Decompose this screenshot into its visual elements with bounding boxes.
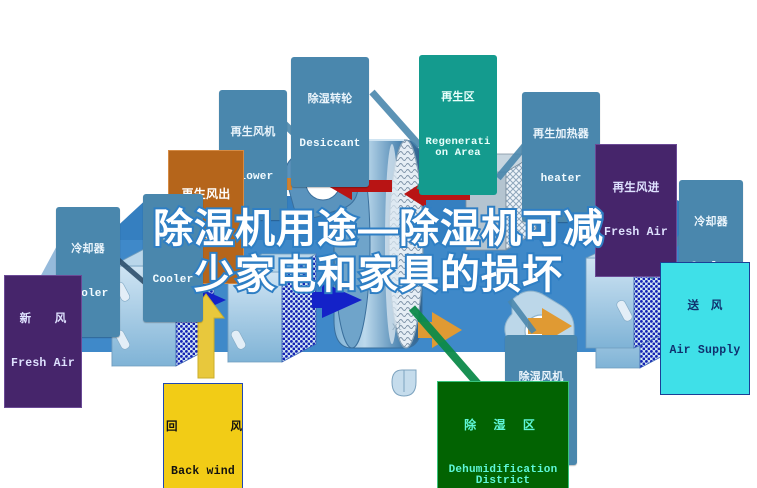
label-dehumid-district-en: Dehumidification District	[440, 465, 566, 488]
label-dehumid-district: 除 湿 区 Dehumidification District	[437, 381, 569, 488]
label-desiccant-wheel: 除湿转轮 Desiccant	[291, 57, 369, 187]
label-regen-heater: 再生加热器 heater	[522, 92, 600, 222]
condensate-collector	[392, 370, 416, 396]
label-cooler-right-cn: 冷却器	[681, 217, 741, 229]
label-regen-fresh-air: 再生风进 Fresh Air	[595, 144, 677, 277]
label-back-wind: 回 风 Back wind	[163, 383, 243, 488]
label-cooler-left-2: 冷却器 Cooler	[143, 194, 203, 322]
label-desiccant-wheel-en: Desiccant	[293, 139, 367, 151]
watermark: xt	[392, 319, 402, 333]
label-air-supply: 送 风 Air Supply	[660, 262, 750, 395]
label-cooler-left-2-cn: 冷却器	[145, 230, 201, 242]
label-fresh-air-inlet-en: Fresh Air	[7, 358, 79, 370]
label-regen-blower-cn: 再生风机	[221, 127, 285, 139]
label-fresh-air-inlet-cn: 新 风	[7, 313, 79, 325]
label-air-supply-en: Air Supply	[663, 345, 747, 357]
label-regen-heater-cn: 再生加热器	[524, 129, 598, 141]
label-cooler-left-2-en: Cooler	[145, 275, 201, 287]
label-regen-fresh-air-en: Fresh Air	[598, 227, 674, 239]
label-regen-fresh-air-cn: 再生风进	[598, 182, 674, 194]
label-cooler-left-1-cn: 冷却器	[58, 244, 118, 256]
label-regen-heater-en: heater	[524, 174, 598, 186]
label-air-supply-cn: 送 风	[663, 300, 747, 312]
label-back-wind-cn: 回 风	[166, 421, 240, 433]
label-desiccant-wheel-cn: 除湿转轮	[293, 94, 367, 106]
dehumidifier-diagram: xt 除湿转轮 Desiccant 再生风机 Blower 再生区 Regene…	[0, 0, 757, 488]
label-fresh-air-inlet: 新 风 Fresh Air	[4, 275, 82, 408]
label-regen-area-en: Regenerati on Area	[421, 137, 495, 159]
label-dehumid-district-cn: 除 湿 区	[440, 419, 566, 432]
label-regen-area: 再生区 Regenerati on Area	[419, 55, 497, 195]
label-back-wind-en: Back wind	[166, 466, 240, 478]
label-regen-area-cn: 再生区	[421, 92, 495, 104]
